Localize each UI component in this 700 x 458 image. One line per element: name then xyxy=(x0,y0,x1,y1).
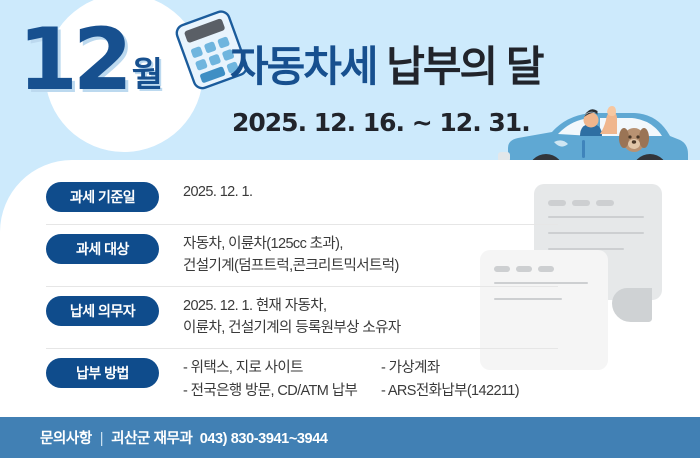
month-number: 12 xyxy=(18,24,128,96)
footer-inquiry-label: 문의사항 xyxy=(40,431,92,447)
payment-column-left: - 위택스, 지로 사이트 - 전국은행 방문, CD/ATM 납부 xyxy=(183,357,381,404)
poster-header: 12 월 자동차세 납부의 달 2025. 12. 16. ~ 12. 31. xyxy=(0,0,700,170)
row-value-payment-method: - 위택스, 지로 사이트 - 전국은행 방문, CD/ATM 납부 - 가상계… xyxy=(183,348,519,404)
poster-root: 12 월 자동차세 납부의 달 2025. 12. 16. ~ 12. 31. xyxy=(0,0,700,458)
table-row: 과세 기준일 2025. 12. 1. xyxy=(0,172,700,224)
title-part-two: 납부의 달 xyxy=(386,43,542,90)
month-unit-label: 월 xyxy=(132,58,163,92)
row-value-tax-base-date: 2025. 12. 1. xyxy=(183,172,252,203)
payment-option: - ARS전화납부(142211) xyxy=(381,380,519,403)
footer-phone: 043) 830-3941~3944 xyxy=(200,431,328,447)
row-label-tax-base-date: 과세 기준일 xyxy=(46,182,159,212)
row-line: 건설기계(덤프트럭,콘크리트믹서트럭) xyxy=(183,255,399,277)
footer-contact: 문의사항|괴산군 재무과 043) 830-3941~3944 xyxy=(40,427,328,448)
row-value-taxpayer: 2025. 12. 1. 현재 자동차, 이륜차, 건설기계의 등록원부상 소유… xyxy=(183,286,401,340)
date-range-text: 2025. 12. 16. ~ 12. 31. xyxy=(232,108,530,137)
row-label-payment-method: 납부 방법 xyxy=(46,358,159,388)
row-line: 2025. 12. 1. xyxy=(183,181,252,203)
footer-department: 괴산군 재무과 xyxy=(111,431,192,447)
table-row: 과세 대상 자동차, 이륜차(125cc 초과), 건설기계(덤프트럭,콘크리트… xyxy=(0,224,700,286)
row-value-taxable-object: 자동차, 이륜차(125cc 초과), 건설기계(덤프트럭,콘크리트믹서트럭) xyxy=(183,224,399,278)
row-label-taxpayer: 납세 의무자 xyxy=(46,296,159,326)
payment-option: - 전국은행 방문, CD/ATM 납부 xyxy=(183,380,381,403)
page-title: 자동차세 납부의 달 xyxy=(230,46,542,88)
footer-divider: | xyxy=(100,431,103,447)
poster-footer: 문의사항|괴산군 재무과 043) 830-3941~3944 xyxy=(0,417,700,458)
payment-option: - 가상계좌 xyxy=(381,357,519,380)
title-part-one: 자동차세 xyxy=(230,43,377,90)
month-badge: 12 월 xyxy=(18,24,163,96)
payment-column-right: - 가상계좌 - ARS전화납부(142211) xyxy=(381,357,519,404)
row-line: 2025. 12. 1. 현재 자동차, xyxy=(183,295,401,317)
row-line: 이륜차, 건설기계의 등록원부상 소유자 xyxy=(183,317,401,339)
table-row: 납부 방법 - 위택스, 지로 사이트 - 전국은행 방문, CD/ATM 납부… xyxy=(0,348,700,410)
detail-rows: 과세 기준일 2025. 12. 1. 과세 대상 자동차, 이륜차(125cc… xyxy=(0,172,700,410)
payment-option: - 위택스, 지로 사이트 xyxy=(183,357,381,380)
row-line: 자동차, 이륜차(125cc 초과), xyxy=(183,233,399,255)
table-row: 납세 의무자 2025. 12. 1. 현재 자동차, 이륜차, 건설기계의 등… xyxy=(0,286,700,348)
row-label-taxable-object: 과세 대상 xyxy=(46,234,159,264)
